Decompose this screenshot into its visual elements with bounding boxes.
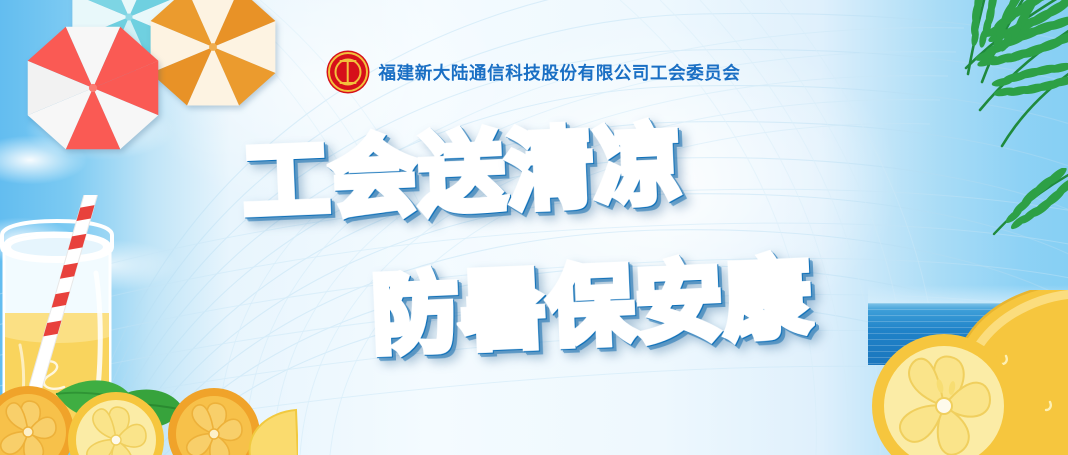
title-char: 安 <box>634 259 724 349</box>
title-char: 暑 <box>458 266 548 356</box>
citrus-fruit-left-group <box>0 360 298 455</box>
title-char: 凉 <box>593 122 683 212</box>
title-char: 工 <box>241 137 331 227</box>
title-char: 保 <box>546 262 636 352</box>
summer-care-banner: 福建新大陆通信科技股份有限公司工会委员会 工会送清凉 防暑保安康 <box>0 0 1068 455</box>
palm-frond-lower-icon <box>962 168 1068 248</box>
title-line-1: 工会送清凉 <box>241 122 684 226</box>
title-char: 康 <box>722 255 812 345</box>
union-emblem-icon <box>328 52 368 92</box>
union-emblem-stem <box>346 60 349 84</box>
title-char: 清 <box>505 126 595 216</box>
organization-name: 福建新大陆通信科技股份有限公司工会委员会 <box>379 60 741 85</box>
title-char: 会 <box>329 133 419 223</box>
citrus-fruit-right-group <box>872 290 1068 455</box>
title-char: 防 <box>370 270 460 360</box>
banner-header: 福建新大陆通信科技股份有限公司工会委员会 <box>0 52 1068 92</box>
title-line-2: 防暑保安康 <box>370 255 813 359</box>
title-char: 送 <box>417 129 507 219</box>
